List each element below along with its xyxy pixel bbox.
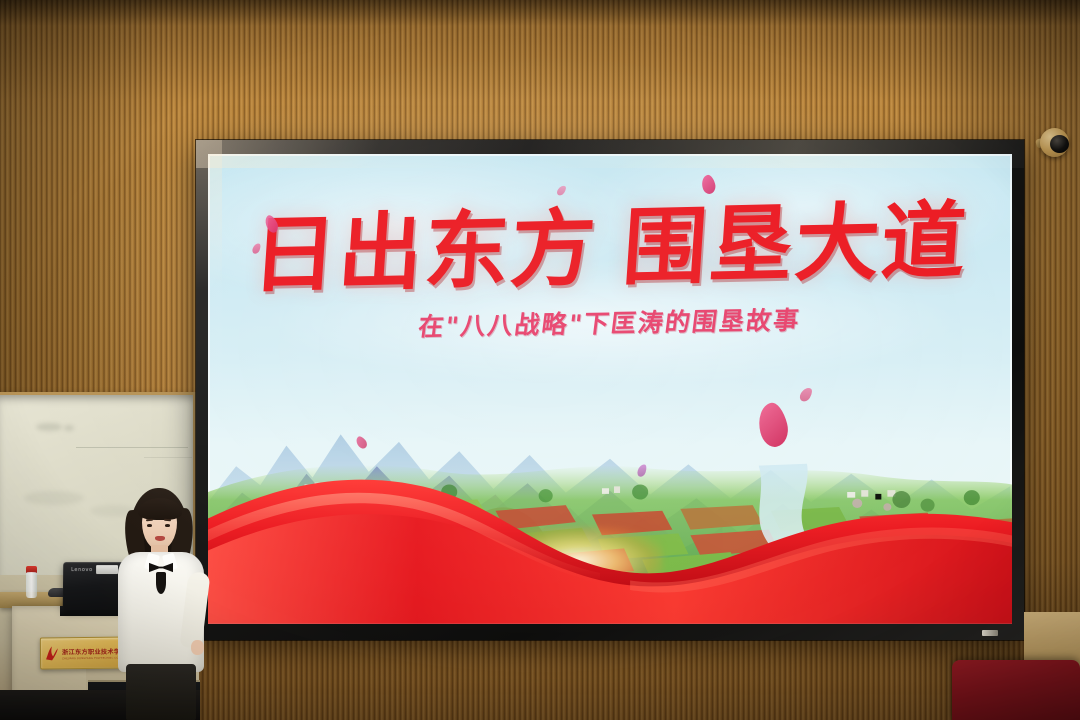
- slide-red-ribbon: [208, 464, 1012, 624]
- whiteboard-smudge: [24, 491, 84, 505]
- presenter: [118, 488, 204, 720]
- whiteboard-line: [76, 447, 188, 448]
- presenter-eye-left: [147, 524, 152, 527]
- camera-dome: [1040, 128, 1069, 157]
- presenter-hand: [191, 640, 204, 655]
- laptop-brand-label: Lenovo: [71, 567, 93, 573]
- ceiling-shadow: [0, 0, 1080, 26]
- presenter-tie-tail: [156, 572, 166, 594]
- presenter-eye-right: [165, 524, 170, 527]
- whiteboard-smudge: [64, 425, 74, 431]
- presentation-slide: 日出东方围垦大道 在"八八战略"下匡涛的围垦故事: [208, 154, 1012, 624]
- ceiling-camera: [1036, 126, 1070, 160]
- laptop-sticker: [96, 565, 118, 574]
- auditorium-chair: [952, 660, 1080, 720]
- whiteboard-line: [144, 457, 192, 458]
- presenter-mouth: [155, 536, 165, 541]
- institution-logo-icon: [45, 645, 59, 661]
- camera-lens-icon: [1050, 135, 1069, 153]
- whiteboard-smudge: [36, 423, 62, 431]
- led-display-screen: 日出东方围垦大道 在"八八战略"下匡涛的围垦故事: [196, 140, 1024, 640]
- water-bottle: [26, 572, 37, 598]
- presenter-skirt: [126, 664, 196, 720]
- screen-power-led: [982, 630, 998, 636]
- lecture-hall-photo: 日出东方围垦大道 在"八八战略"下匡涛的围垦故事: [0, 0, 1080, 720]
